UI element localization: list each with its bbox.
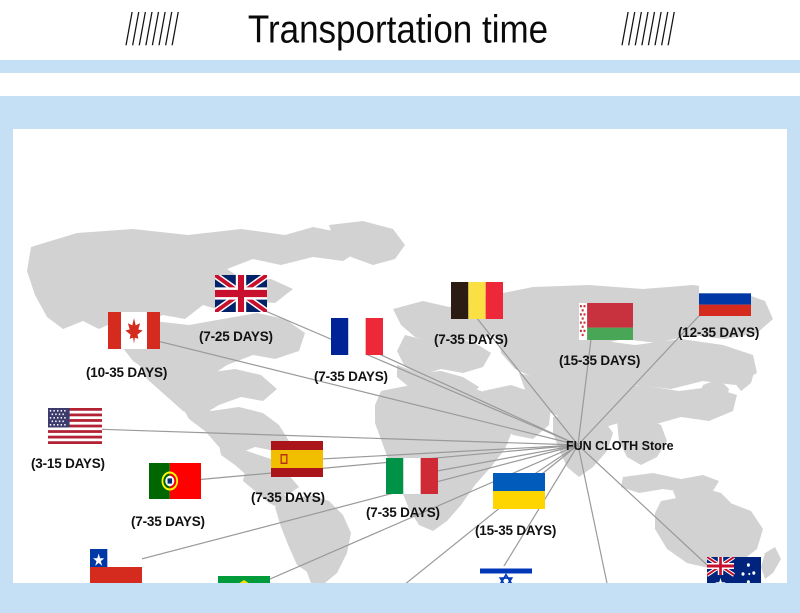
label-portugal: (7-35 DAYS) xyxy=(131,514,205,529)
world-map-panel: FUN CLOTH Store xyxy=(13,129,787,583)
flag-belgium xyxy=(451,282,503,319)
label-united-states: (3-15 DAYS) xyxy=(31,456,105,471)
flag-belarus xyxy=(579,303,633,340)
label-spain: (7-35 DAYS) xyxy=(251,490,325,505)
flag-israel xyxy=(480,566,532,583)
flag-portugal xyxy=(149,463,201,499)
page-title: Transportation time xyxy=(248,8,548,53)
flag-russia xyxy=(699,282,751,316)
hub-store-label: FUN CLOTH Store xyxy=(566,439,674,453)
label-italy: (7-35 DAYS) xyxy=(366,505,440,520)
flag-brazil xyxy=(218,576,270,583)
flag-france xyxy=(331,318,383,355)
flag-united-kingdom xyxy=(215,275,267,312)
label-belgium: (7-35 DAYS) xyxy=(434,332,508,347)
flag-ukraine xyxy=(493,473,545,509)
label-canada: (10-35 DAYS) xyxy=(86,365,167,380)
flag-united-states xyxy=(48,408,102,444)
label-united-kingdom: (7-25 DAYS) xyxy=(199,329,273,344)
flag-chile xyxy=(90,549,142,583)
hatch-decoration-left: //////// xyxy=(126,5,179,54)
label-france: (7-35 DAYS) xyxy=(314,369,388,384)
flag-australia xyxy=(707,557,761,583)
divider-band-top xyxy=(0,60,800,73)
flag-spain xyxy=(271,441,323,477)
flag-canada xyxy=(108,312,160,349)
label-russia: (12-35 DAYS) xyxy=(678,325,759,340)
label-belarus: (15-35 DAYS) xyxy=(559,353,640,368)
label-ukraine: (15-35 DAYS) xyxy=(475,523,556,538)
flag-italy xyxy=(386,458,438,494)
hatch-decoration-right: //////// xyxy=(622,5,675,54)
divider-band-gap xyxy=(0,73,800,96)
page-header: //////// Transportation time //////// xyxy=(0,0,800,60)
